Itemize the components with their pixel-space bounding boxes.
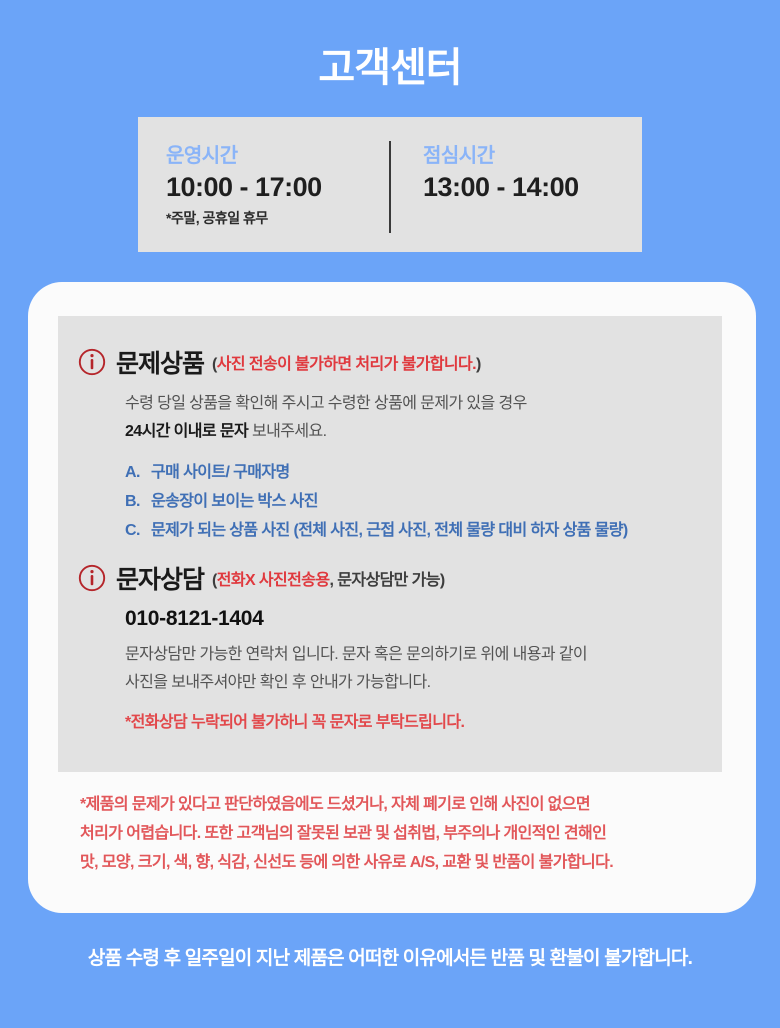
problem-product-subtitle: (사진 전송이 불가하면 처리가 불가합니다.) bbox=[212, 350, 481, 374]
customer-center-page: 고객센터 운영시간 10:00 - 17:00 *주말, 공휴일 휴무 점심시간… bbox=[0, 0, 780, 1028]
list-item: B. 운송장이 보이는 박스 사진 bbox=[125, 487, 722, 516]
sms-support-body: 문자상담만 가능한 연락처 입니다. 문자 혹은 문의하기로 위에 내용과 같이… bbox=[58, 631, 722, 696]
disclaimer-line-2: 처리가 어렵습니다. 또한 고객님의 잘못된 보관 및 섭취법, 부주의나 개인… bbox=[80, 819, 720, 848]
sms-support-subtitle-red: 전화X 사진전송용 bbox=[217, 572, 330, 589]
problem-product-title: 문제상품 bbox=[116, 344, 204, 380]
business-hours-box: 운영시간 10:00 - 17:00 *주말, 공휴일 휴무 점심시간 13:0… bbox=[138, 117, 642, 252]
problem-body-line-1: 수령 당일 상품을 확인해 주시고 수령한 상품에 문제가 있을 경우 bbox=[125, 390, 722, 418]
lunch-hours-label: 점심시간 bbox=[423, 139, 642, 168]
page-title: 고객센터 bbox=[0, 0, 780, 92]
problem-body-line-2: 24시간 이내로 문자 보내주세요. bbox=[125, 418, 722, 446]
sms-red-warning: *전화상담 누락되어 불가하니 꼭 문자로 부탁드립니다. bbox=[58, 696, 722, 732]
list-item-label: 운송장이 보이는 박스 사진 bbox=[151, 487, 318, 516]
lunch-hours-value: 13:00 - 14:00 bbox=[423, 172, 642, 203]
problem-body-rest: 보내주세요. bbox=[248, 423, 326, 440]
disclaimer-line-3: 맛, 모양, 크기, 색, 향, 식감, 신선도 등에 의한 사유로 A/S, … bbox=[80, 848, 720, 877]
disclaimer-line-1: *제품의 문제가 있다고 판단하였음에도 드셨거나, 자체 폐기로 인해 사진이… bbox=[80, 790, 720, 819]
info-circle-icon bbox=[78, 564, 106, 592]
operating-hours-label: 운영시간 bbox=[166, 139, 385, 168]
problem-body-bold: 24시간 이내로 문자 bbox=[125, 423, 248, 440]
main-card: 문제상품 (사진 전송이 불가하면 처리가 불가합니다.) 수령 당일 상품을 … bbox=[28, 282, 756, 913]
list-item-key: A. bbox=[125, 458, 151, 487]
section-sms-support: 문자상담 (전화X 사진전송용, 문자상담만 가능) 010-8121-1404… bbox=[58, 560, 722, 732]
operating-hours-column: 운영시간 10:00 - 17:00 *주말, 공휴일 휴무 bbox=[138, 117, 385, 228]
return-policy-disclaimer: *제품의 문제가 있다고 판단하였음에도 드셨거나, 자체 폐기로 인해 사진이… bbox=[28, 790, 756, 877]
list-item: A. 구매 사이트/ 구매자명 bbox=[125, 458, 722, 487]
sms-body-line-1: 문자상담만 가능한 연락처 입니다. 문자 혹은 문의하기로 위에 내용과 같이 bbox=[125, 641, 722, 669]
bottom-banner-text: 상품 수령 후 일주일이 지난 제품은 어떠한 이유에서든 반품 및 환불이 불… bbox=[0, 943, 780, 970]
problem-product-header: 문제상품 (사진 전송이 불가하면 처리가 불가합니다.) bbox=[58, 344, 722, 380]
list-item-key: C. bbox=[125, 516, 151, 545]
info-circle-icon bbox=[78, 348, 106, 376]
required-photos-list: A. 구매 사이트/ 구매자명 B. 운송장이 보이는 박스 사진 C. 문제가… bbox=[58, 445, 722, 545]
lunch-hours-column: 점심시간 13:00 - 14:00 bbox=[385, 117, 642, 208]
list-item-label: 구매 사이트/ 구매자명 bbox=[151, 458, 290, 487]
problem-product-body: 수령 당일 상품을 확인해 주시고 수령한 상품에 문제가 있을 경우 24시간… bbox=[58, 380, 722, 445]
info-panel: 문제상품 (사진 전송이 불가하면 처리가 불가합니다.) 수령 당일 상품을 … bbox=[58, 316, 722, 772]
sms-support-header: 문자상담 (전화X 사진전송용, 문자상담만 가능) bbox=[58, 560, 722, 596]
sms-support-subtitle: (전화X 사진전송용, 문자상담만 가능) bbox=[212, 566, 445, 590]
operating-hours-note: *주말, 공휴일 휴무 bbox=[166, 208, 385, 228]
support-phone-number[interactable]: 010-8121-1404 bbox=[58, 596, 722, 631]
operating-hours-value: 10:00 - 17:00 bbox=[166, 172, 385, 203]
sms-body-line-2: 사진을 보내주셔야만 확인 후 안내가 가능합니다. bbox=[125, 669, 722, 697]
list-item: C. 문제가 되는 상품 사진 (전체 사진, 근접 사진, 전체 물량 대비 … bbox=[125, 516, 722, 545]
section-problem-product: 문제상품 (사진 전송이 불가하면 처리가 불가합니다.) 수령 당일 상품을 … bbox=[58, 344, 722, 545]
problem-product-subtitle-red: 사진 전송이 불가하면 처리가 불가합니다. bbox=[217, 356, 476, 373]
list-item-label: 문제가 되는 상품 사진 (전체 사진, 근접 사진, 전체 물량 대비 하자 … bbox=[151, 516, 628, 545]
list-item-key: B. bbox=[125, 487, 151, 516]
sms-support-title: 문자상담 bbox=[116, 560, 204, 596]
